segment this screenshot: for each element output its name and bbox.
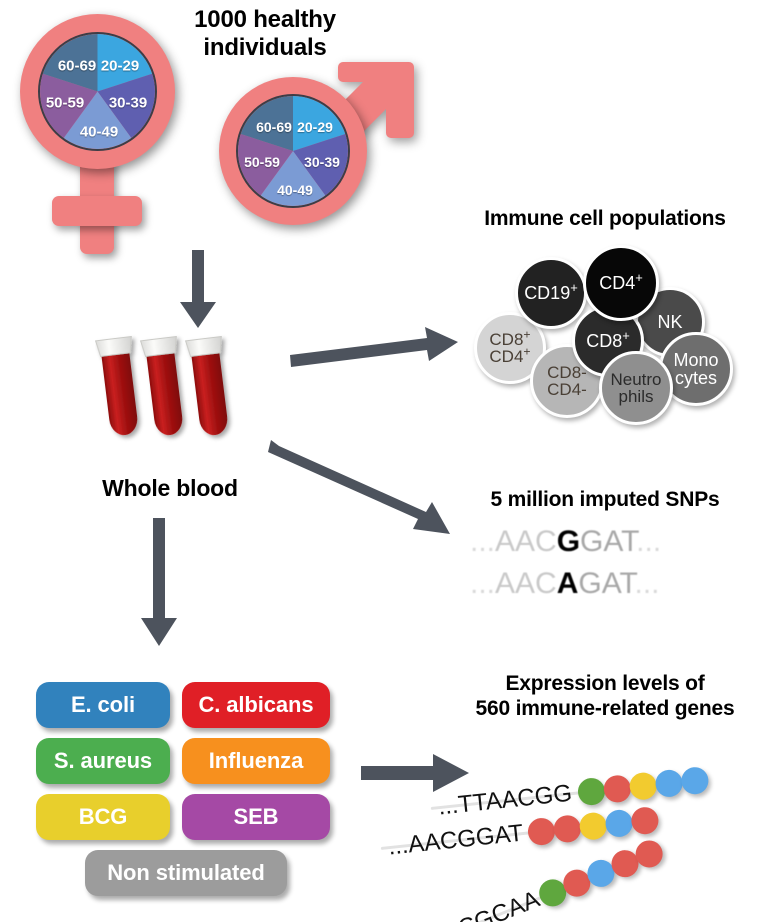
immune-cell-label: Mono	[673, 351, 718, 369]
strand-1: ...TTAACGG	[576, 775, 580, 810]
immune-cell-label-2: CD4-	[547, 381, 587, 398]
dna-bead	[654, 768, 684, 798]
dna-sequence-text: ...CACGCAA	[405, 885, 544, 922]
stimulation-non-stimulated[interactable]: Non stimulated	[85, 850, 287, 896]
dna-bead	[577, 776, 607, 806]
pie-label-20-29: 20-29	[101, 58, 139, 75]
pie-label-30-39: 30-39	[304, 154, 340, 170]
expression-heading-line2: 560 immune-related genes	[440, 697, 770, 722]
strand-2: ...AACGGAT	[526, 815, 530, 850]
snp-variant-1: G	[557, 525, 580, 558]
arrow-blood-to-immune	[290, 325, 460, 370]
snp-trailing-dots: ...	[636, 525, 661, 558]
dna-bead	[583, 855, 618, 890]
immune-cell-label: CD19+	[524, 284, 578, 302]
immune-cell-label: CD8-	[547, 364, 587, 381]
expression-heading-line1: Expression levels of	[440, 672, 770, 697]
stimulation-label: Influenza	[209, 748, 303, 774]
immune-cell-label-2: phils	[610, 388, 661, 405]
snp-leading-dots: ...	[470, 567, 495, 600]
female-age-pie: 20-29 30-39 40-49 50-59 60-69	[38, 32, 157, 151]
dna-bead	[602, 774, 632, 804]
immune-cell-label: Neutro	[610, 371, 661, 388]
immune-cell-label: CD8+	[586, 332, 630, 350]
snp-suffix-2: GAT	[578, 567, 634, 600]
immune-cell-label-2: CD4+	[489, 348, 530, 365]
arrow-stimulation-to-expression	[361, 752, 471, 794]
pie-label-50-59: 50-59	[46, 95, 84, 112]
snp-prefix-2: AAC	[495, 567, 557, 600]
figure-canvas: 1000 healthy individuals Immune cell pop…	[0, 0, 771, 922]
whole-blood-label: Whole blood	[80, 475, 260, 502]
pie-label-40-49: 40-49	[80, 124, 118, 141]
dna-bead	[630, 805, 660, 835]
female-symbol: 20-29 30-39 40-49 50-59 60-69	[10, 8, 200, 258]
stimulation-s-aureus[interactable]: S. aureus	[36, 738, 170, 784]
arrow-cohort-to-blood	[178, 250, 218, 328]
snp-trailing-dots: ...	[635, 567, 660, 600]
expression-heading: Expression levels of 560 immune-related …	[440, 672, 770, 722]
blood-tube-2	[141, 337, 189, 438]
pie-label-40-49: 40-49	[277, 182, 313, 198]
dna-bead	[578, 811, 608, 841]
stimulation-influenza[interactable]: Influenza	[182, 738, 330, 784]
stimulation-bcg[interactable]: BCG	[36, 794, 170, 840]
stimulation-label: BCG	[79, 804, 128, 830]
stimulation-label: SEB	[234, 804, 279, 830]
blood-tube-3	[186, 337, 234, 438]
dna-sequence-text: ...AACGGAT	[387, 819, 525, 861]
snps-heading: 5 million imputed SNPs	[455, 488, 755, 513]
immune-cell-label: NK	[657, 313, 682, 331]
stimulation-e-coli[interactable]: E. coli	[36, 682, 170, 728]
snp-sequences: ...AACGGAT... ...AACAGAT...	[470, 525, 750, 615]
arrow-blood-to-snps	[268, 440, 453, 550]
snp-leading-dots: ...	[470, 525, 495, 558]
snp-prefix-1: AAC	[495, 525, 557, 558]
snp-row-1: ...AACGGAT...	[470, 525, 661, 559]
dna-bead	[535, 875, 570, 910]
immune-cell-cd19p[interactable]: CD19+	[515, 257, 587, 329]
pie-label-50-59: 50-59	[244, 154, 280, 170]
stimulation-label: C. albicans	[198, 692, 313, 718]
immune-heading: Immune cell populations	[440, 207, 770, 232]
snp-variant-2: A	[557, 567, 579, 600]
stimulation-c-albicans[interactable]: C. albicans	[182, 682, 330, 728]
immune-cell-neutrophils[interactable]: Neutrophils	[599, 351, 673, 425]
arrow-blood-to-stimulation	[139, 518, 179, 646]
dna-bead	[559, 865, 594, 900]
blood-tube-1	[96, 337, 144, 438]
snp-suffix-1: GAT	[580, 525, 636, 558]
stimulation-seb[interactable]: SEB	[182, 794, 330, 840]
stimulation-label: S. aureus	[54, 748, 152, 774]
dna-bead	[680, 765, 710, 795]
dna-bead	[631, 836, 666, 871]
immune-cell-label-2: cytes	[673, 369, 718, 387]
immune-cell-label: CD4+	[599, 274, 643, 292]
strand-3: ...CACGCAA	[533, 881, 546, 913]
pie-label-30-39: 30-39	[109, 95, 147, 112]
dna-backbone	[402, 894, 546, 922]
dna-bead	[607, 846, 642, 881]
dna-bead	[527, 816, 557, 846]
female-stem-horizontal	[52, 196, 142, 226]
dna-backbone	[380, 830, 534, 849]
snp-row-2: ...AACAGAT...	[470, 567, 660, 601]
pie-label-60-69: 60-69	[58, 58, 96, 75]
dna-bead	[604, 808, 634, 838]
male-age-pie: 20-29 30-39 40-49 50-59 60-69	[236, 94, 350, 208]
pie-label-20-29: 20-29	[297, 119, 333, 135]
pie-label-60-69: 60-69	[256, 119, 292, 135]
stimulation-label: Non stimulated	[107, 860, 265, 886]
dna-bead	[552, 814, 582, 844]
immune-cell-cd4p[interactable]: CD4+	[583, 245, 659, 321]
stimulation-label: E. coli	[71, 692, 135, 718]
male-symbol: 20-29 30-39 40-49 50-59 60-69	[205, 55, 415, 255]
blood-tubes	[95, 330, 270, 470]
dna-bead	[628, 771, 658, 801]
